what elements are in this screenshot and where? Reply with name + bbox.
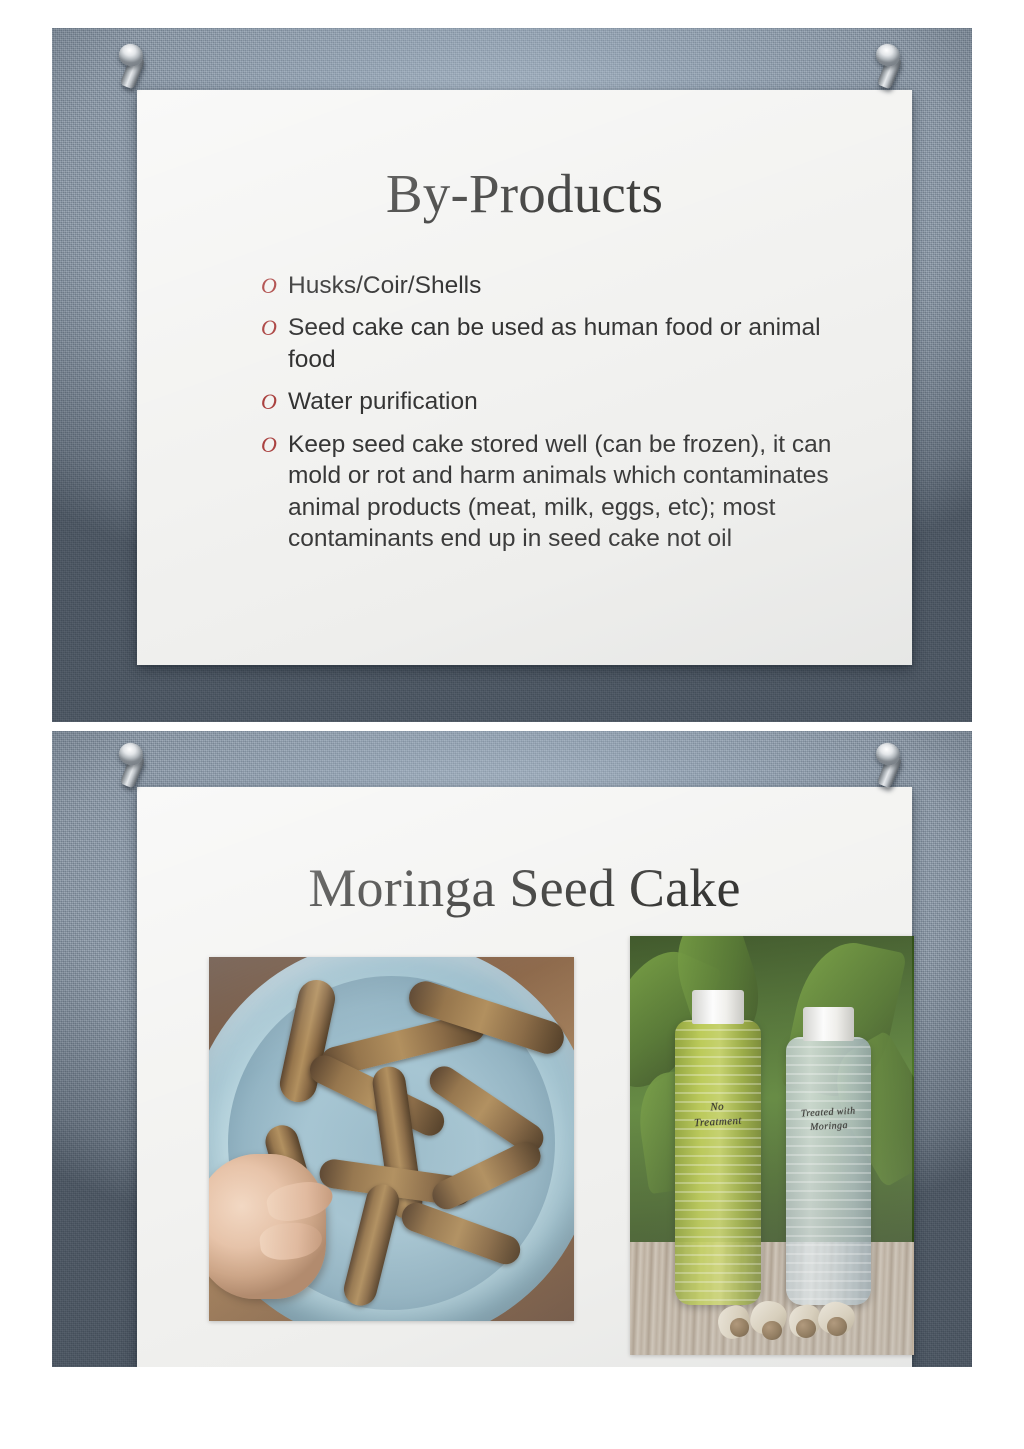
seed-cake-scene	[209, 957, 574, 1321]
list-item-text: Seed cake can be used as human food or a…	[288, 314, 821, 372]
untreated-water-bottle: No Treatment	[675, 1020, 760, 1305]
seed-kernel	[796, 1319, 815, 1338]
bottle-ribs	[786, 1037, 871, 1305]
slide-1-title: By-Products	[137, 164, 912, 223]
bullet-marker-icon: O	[261, 313, 277, 342]
bottle-ribs	[675, 1020, 760, 1305]
seed-kernel	[827, 1317, 846, 1336]
bottle-cap	[692, 990, 743, 1024]
pushpin-icon	[872, 40, 912, 92]
slide-2-card: Moringa Seed Cake	[137, 787, 912, 1367]
pushpin-icon	[115, 40, 155, 92]
list-item: O Husks/Coir/Shells	[261, 270, 861, 301]
bullet-marker-icon: O	[261, 271, 277, 300]
page-sheet: By-Products O Husks/Coir/Shells O Seed c…	[0, 0, 1024, 1449]
pushpin-icon	[872, 739, 912, 791]
water-purification-photo: No Treatment Treated with Moringa	[630, 936, 914, 1355]
seed-cake-photo	[209, 957, 574, 1321]
list-item: O Keep seed cake stored well (can be fro…	[261, 429, 861, 555]
bullet-marker-icon: O	[261, 430, 277, 459]
seed-kernel	[730, 1318, 749, 1337]
foliage-backdrop	[630, 936, 914, 1246]
bullet-marker-icon: O	[261, 387, 277, 416]
list-item-text: Keep seed cake stored well (can be froze…	[288, 431, 831, 552]
moringa-seeds	[715, 1296, 863, 1350]
slide-2[interactable]: Moringa Seed Cake	[52, 731, 972, 1367]
slide-1[interactable]: By-Products O Husks/Coir/Shells O Seed c…	[52, 28, 972, 722]
untreated-bottle-label: No Treatment	[675, 1097, 762, 1131]
slide-1-card: By-Products O Husks/Coir/Shells O Seed c…	[137, 90, 912, 665]
slide-2-title: Moringa Seed Cake	[137, 859, 912, 917]
list-item: O Water purification	[261, 386, 861, 417]
treated-water-bottle: Treated with Moringa	[786, 1037, 871, 1305]
bottles-scene: No Treatment Treated with Moringa	[630, 936, 914, 1355]
bottle-cap	[803, 1007, 854, 1041]
treated-bottle-label: Treated with Moringa	[786, 1104, 872, 1135]
seed-kernel	[762, 1321, 781, 1340]
slide-1-bullet-list: O Husks/Coir/Shells O Seed cake can be u…	[261, 270, 861, 566]
list-item: O Seed cake can be used as human food or…	[261, 312, 861, 375]
list-item-text: Water purification	[288, 388, 478, 415]
pushpin-icon	[115, 739, 155, 791]
list-item-text: Husks/Coir/Shells	[288, 272, 481, 299]
